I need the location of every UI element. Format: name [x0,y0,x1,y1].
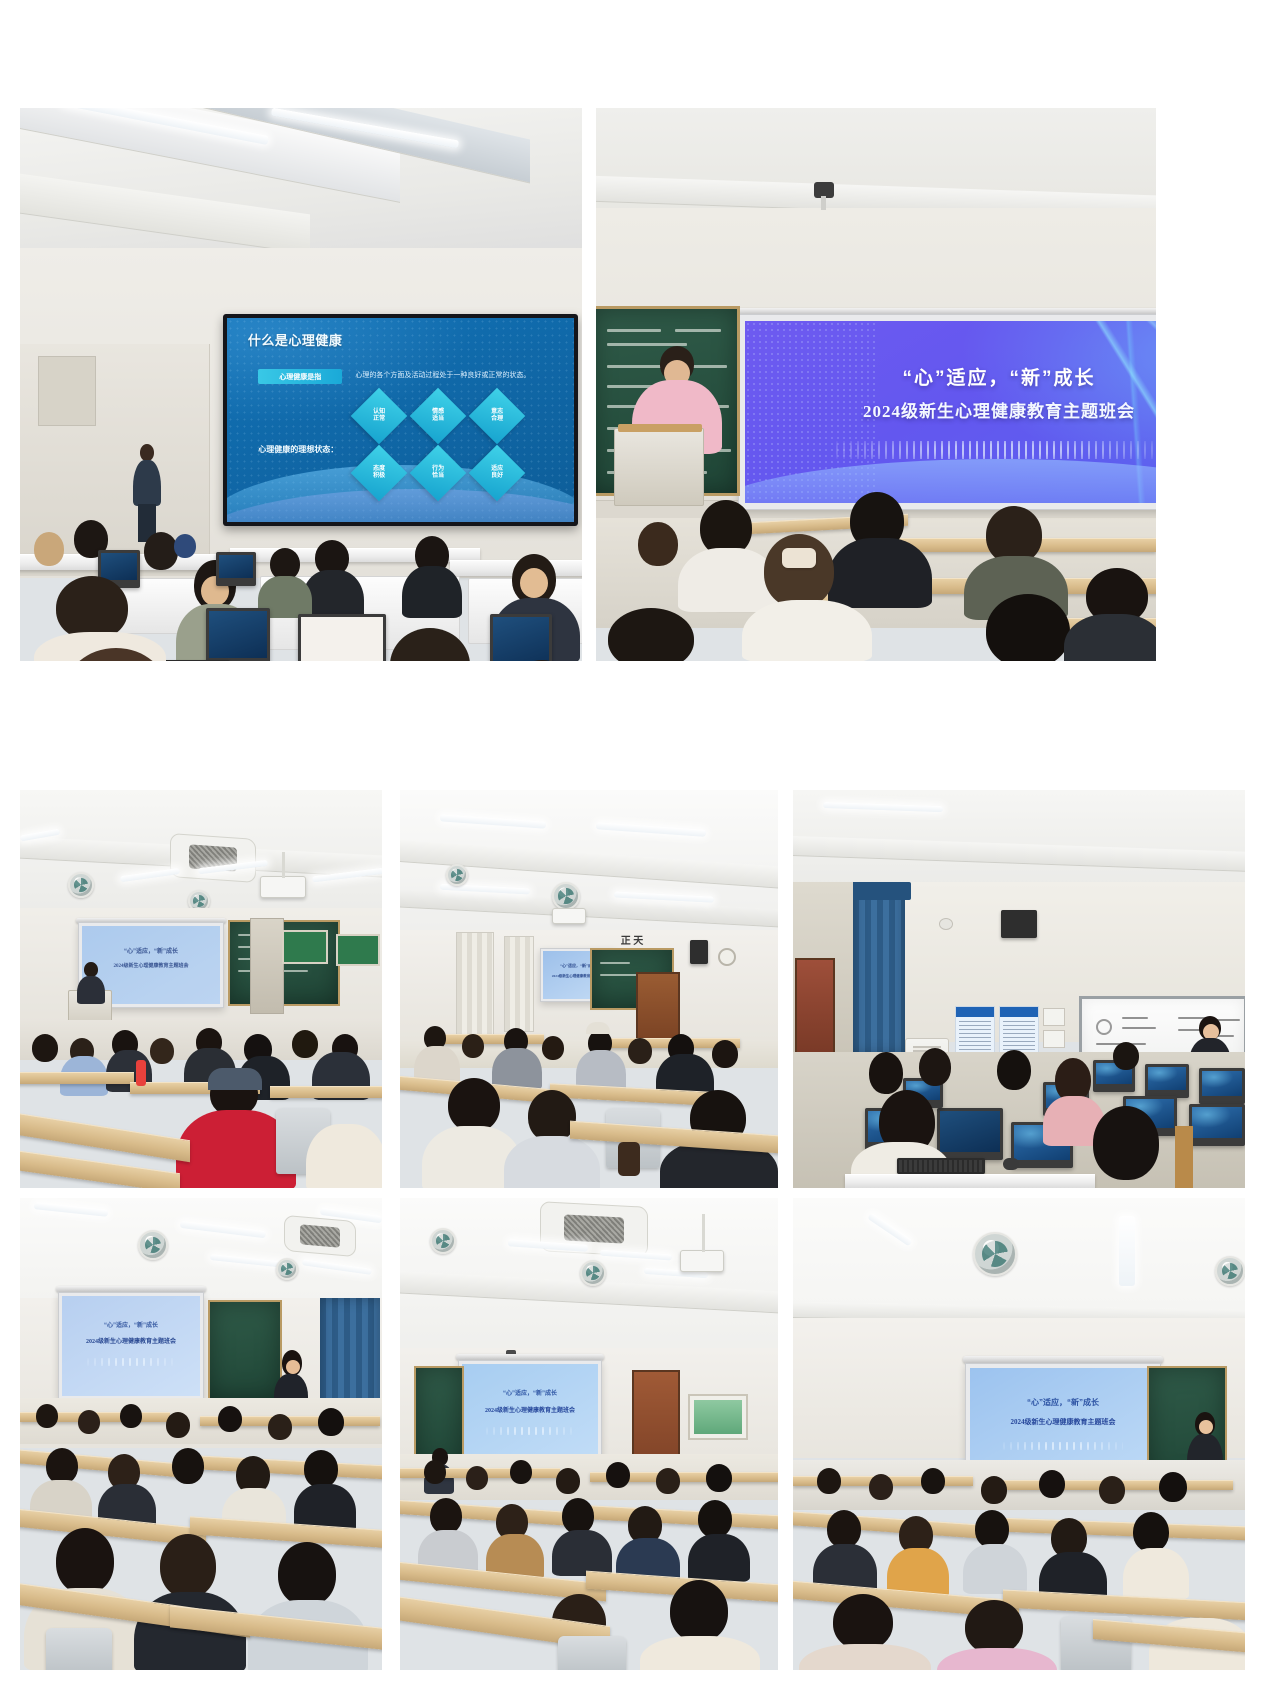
hair-clip [782,548,816,568]
student-head [510,1460,532,1484]
door [795,958,835,1054]
student-head [78,1410,100,1434]
projector [552,908,586,924]
slide-b-subtitle: 2024级新生心理健康教育主题班会 [62,1336,200,1345]
ceiling-fan [552,882,580,910]
sign [1043,1030,1065,1048]
student [504,660,582,661]
bulletin-board [336,934,380,966]
photo-6[interactable]: “心”适应，“新”成长 2024级新生心理健康教育主题班会 [20,1198,382,1670]
student-head [975,1510,1009,1548]
slide-b-surface: “心”适应，“新”成长 2024级新生心理健康教育主题班会 [745,321,1156,503]
student-head [562,1498,594,1534]
slide-b-title: “心”适应，“新”成长 [62,1320,200,1329]
chair [46,1628,112,1670]
chair [558,1636,626,1670]
student-head [1093,1106,1159,1180]
student-head [466,1466,488,1490]
gallery-page: 什么是心理健康 心理健康是指 心理的各个方面及活动过程处于一种良好或正常的状态。… [0,0,1268,1691]
slide-a-surface: 什么是心理健康 心理健康是指 心理的各个方面及活动过程处于一种良好或正常的状态。… [227,318,574,522]
student-head [919,1048,951,1086]
student-head [986,594,1070,661]
slide-b-subtitle: 2024级新生心理健康教育主题班会 [970,1417,1156,1427]
sign [1043,1008,1065,1026]
slide-b-title: “心”适应，“新”成长 [745,363,1156,390]
student-head [1133,1512,1169,1552]
student-head [921,1468,945,1494]
photo-1[interactable]: 什么是心理健康 心理健康是指 心理的各个方面及活动过程处于一种良好或正常的状态。… [20,108,582,661]
bulletin-board [282,930,328,964]
student [805,1594,925,1670]
student-head [628,1038,652,1064]
slide-b-subtitle: 2024级新生心理健康教育主题班会 [462,1405,598,1414]
student-head [318,1408,344,1436]
door [636,972,680,1042]
slide-b-surface: “心”适应，“新”成长 2024级新生心理健康教育主题班会 [462,1364,598,1466]
air-conditioner [284,1215,356,1257]
student-head [542,1036,564,1060]
presenter [130,444,164,540]
student [252,1542,364,1670]
student-head [36,1404,58,1428]
student-head [764,534,834,608]
monitor [1189,1104,1245,1146]
window-curtain [504,936,534,1032]
student-head [656,1468,680,1494]
student-head [166,1412,190,1438]
cap [208,1068,262,1090]
photo-5[interactable]: 机房管理制度 学生上机守则 板书示意 [793,790,1245,1188]
photo-2[interactable]: “心”适应，“新”成长 2024级新生心理健康教育主题班会 [596,108,1156,661]
slide-a-description: 心理的各个方面及活动过程处于一种良好或正常的状态。 [355,370,530,380]
slide-b-surface: “心”适应，“新”成长 2024级新生心理健康教育主题班会 [62,1296,200,1396]
bag [618,1142,640,1176]
student-head [869,1474,893,1500]
window-curtain [853,884,905,1054]
student [38,648,188,661]
slide-a-tag: 心理健康是指 [258,369,342,384]
ceiling-fan [138,1230,168,1260]
ceiling-fan [446,864,468,886]
student-head [608,608,694,661]
student-head [981,1476,1007,1504]
student-head [1159,1472,1187,1502]
student-head [698,1500,732,1538]
student-head [606,1462,630,1488]
student-head [1099,1476,1125,1504]
student-head [150,1038,174,1064]
photo-7[interactable]: “心”适应，“新”成长 2024级新生心理健康教育主题班会 [400,1198,778,1670]
student-head [424,1460,446,1484]
window-curtain [456,932,494,1042]
slide-b-title: “心”适应，“新”成长 [82,946,220,955]
slide-a-subtitle: 心理健康的理想状态： [258,444,338,455]
student [350,628,510,661]
ceiling-fan [276,1258,298,1280]
student-head [268,1414,292,1440]
student-head [292,1030,318,1058]
waveform-decoration [836,441,1156,459]
podium [614,428,704,506]
wall-speaker [690,940,708,964]
student-head [1039,1470,1065,1498]
projection-screen: “心”适应，“新”成长 2024级新生心理健康教育主题班会 [738,314,1156,510]
ceiling-light [1119,1216,1135,1286]
monitor [1145,1064,1189,1098]
student-head [174,534,196,558]
wall-clock [718,948,736,966]
student-head [817,1468,841,1494]
student-head [430,1498,462,1534]
mouse [1003,1158,1019,1170]
air-conditioner [170,833,256,883]
ceiling-fan [68,872,94,898]
monitor [216,552,256,586]
student-head [638,522,678,566]
projection-screen: “心”适应，“新”成长 2024级新生心理健康教育主题班会 [58,1292,204,1400]
monitor [206,608,270,661]
student [644,1580,756,1670]
wall-door [250,918,284,1014]
water-bottle [136,1060,146,1086]
led-screen: 什么是心理健康 心理健康是指 心理的各个方面及活动过程处于一种良好或正常的状态。… [223,314,578,526]
projector [260,876,306,898]
slide-b-title: “心”适应，“新”成长 [462,1388,598,1397]
student-head [34,532,64,566]
student-head [32,1034,58,1062]
student-head [827,1510,861,1548]
slide-a-title: 什么是心理健康 [248,330,343,349]
student-head [462,1034,484,1058]
classroom-banner: 正 天 [604,932,660,946]
wall-panel [38,356,96,426]
projector [680,1250,724,1272]
student-head [706,1464,732,1492]
screen-roller-bar [963,1356,1163,1363]
student-head [1113,1042,1139,1070]
ceiling-fan [430,1228,456,1254]
student-head [304,1450,338,1488]
chalkboard [208,1300,282,1400]
photo-8[interactable]: “心”适应，“新”成长 2024级新生心理健康教育主题班会 [793,1198,1245,1670]
keyboard [897,1158,985,1174]
camera-icon [939,918,953,930]
student-head [556,1468,580,1494]
photo-3[interactable]: “心”适应，“新”成长 2024级新生心理健康教育主题班会 [20,790,382,1188]
cap [586,1022,610,1034]
student-head [120,1404,142,1428]
slide-b-title: “心”适应，“新”成长 [970,1397,1156,1408]
student-head [997,1050,1031,1090]
student-head [869,1052,903,1094]
student-head [218,1406,242,1432]
student-head [46,1448,78,1484]
student-head [172,1448,204,1484]
student-head [712,1040,738,1068]
teacher [76,962,106,1002]
student [941,1600,1053,1670]
desk-leg [1175,1126,1193,1188]
monitor [1199,1068,1245,1104]
ceiling-fan [973,1232,1017,1276]
ceiling-fan [580,1260,606,1286]
ceiling-fan [1215,1256,1245,1286]
student [306,1110,382,1188]
monitor [937,1108,1003,1160]
slide-b-subtitle: 2024级新生心理健康教育主题班会 [745,397,1156,422]
photo-4[interactable]: “心”适应，“新”成长 2024级新生心理健康教育主题班会 正 天 正 天 [400,790,778,1188]
wall-speaker [1001,910,1037,938]
